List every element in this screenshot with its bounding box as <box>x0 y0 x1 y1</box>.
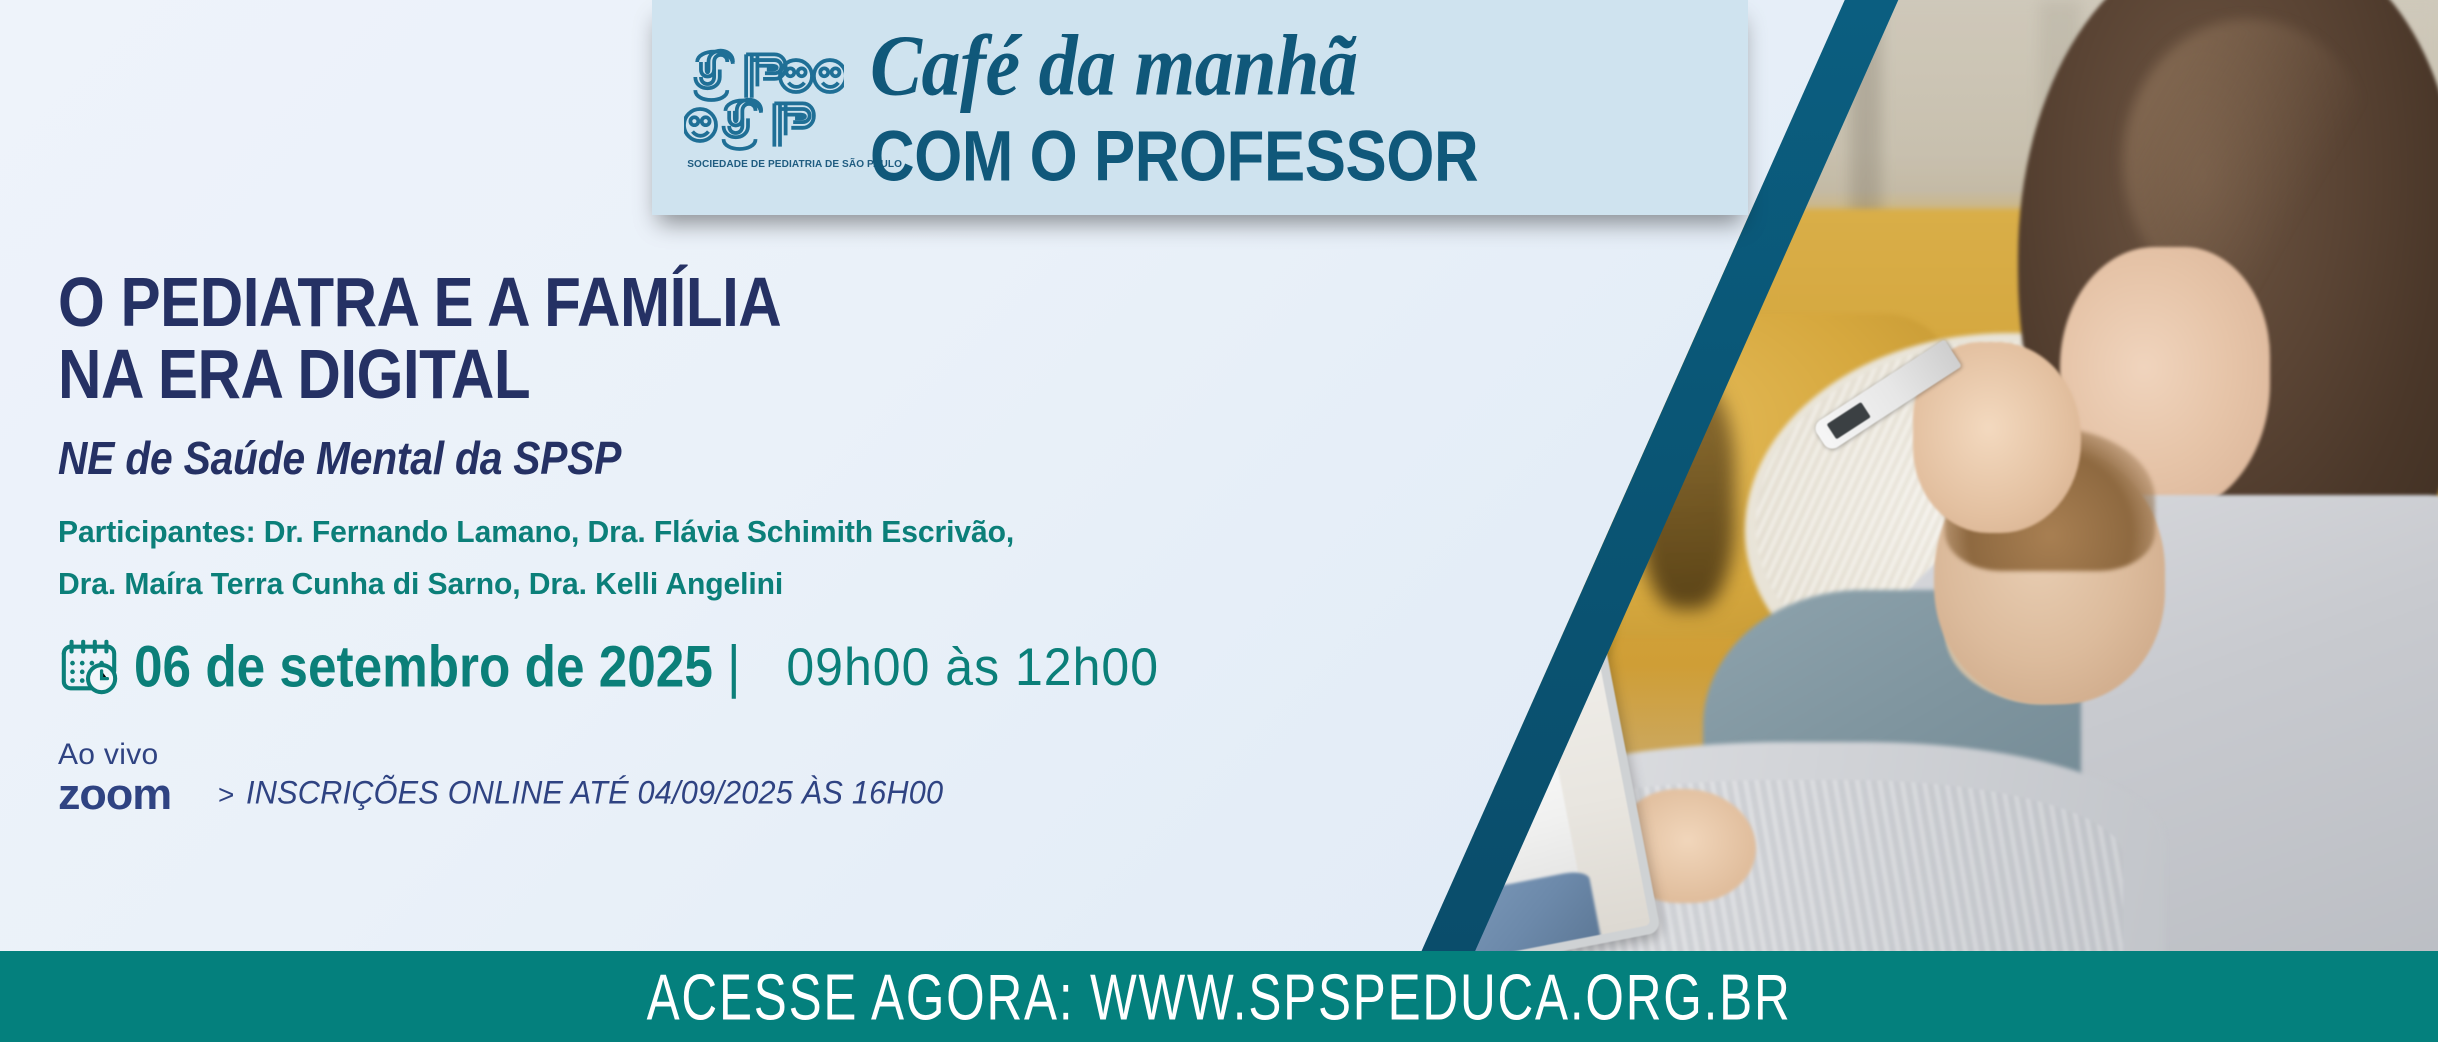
live-label: Ao vivo <box>58 740 188 770</box>
event-time: 09h00 às 12h00 <box>786 636 1159 697</box>
header-title-line2: COM O PROFESSOR <box>870 121 1478 193</box>
event-date-value: 06 de setembro de 2025 <box>134 634 713 699</box>
footer-cta-text: ACESSE AGORA: WWW.SPSPEDUCA.ORG.BR <box>647 959 1792 1035</box>
zoom-logo: zoom <box>58 772 191 818</box>
event-date: 06 de setembro de 2025 | <box>134 633 740 700</box>
participants-line1: Participantes: Dr. Fernando Lamano, Dra.… <box>58 514 1126 550</box>
registration-row[interactable]: > INSCRIÇÕES ONLINE ATÉ 04/09/2025 ÀS 16… <box>218 776 951 818</box>
registration-deadline: INSCRIÇÕES ONLINE ATÉ 04/09/2025 ÀS 16H0… <box>246 774 943 811</box>
logo-caption: SOCIEDADE DE PEDIATRIA DE SÃO PAULO <box>687 158 841 170</box>
doctor-face <box>1417 672 1494 756</box>
date-separator: | <box>727 634 740 699</box>
event-banner: SOCIEDADE DE PEDIATRIA DE SÃO PAULO Café… <box>0 0 2438 1042</box>
chevron-right-icon: > <box>218 779 234 811</box>
date-time-row: 06 de setembro de 2025 | 09h00 às 12h00 <box>58 636 1159 698</box>
eyeglasses-icon <box>1418 692 1489 725</box>
header-card: SOCIEDADE DE PEDIATRIA DE SÃO PAULO Café… <box>652 0 1748 215</box>
content-block: O PEDIATRA E A FAMÍLIA NA ERA DIGITAL NE… <box>58 268 1159 818</box>
zoom-block: Ao vivo zoom <box>58 740 188 818</box>
subtitle: NE de Saúde Mental da SPSP <box>58 432 1126 485</box>
spsp-logo-icon: SOCIEDADE DE PEDIATRIA DE SÃO PAULO <box>684 45 844 170</box>
sofa-shadow <box>1640 380 1735 608</box>
doctor-hair <box>1402 647 1504 749</box>
participants-line2: Dra. Maíra Terra Cunha di Sarno, Dra. Ke… <box>58 566 1126 602</box>
doctor-hand-left <box>1388 827 1431 886</box>
calendar-clock-icon <box>58 636 120 698</box>
header-titles: Café da manhã COM O PROFESSOR <box>870 31 1491 184</box>
live-registration-row: Ao vivo zoom > INSCRIÇÕES ONLINE ATÉ 04/… <box>58 740 1159 818</box>
headline-line2: NA ERA DIGITAL <box>58 340 1126 412</box>
header-title-line1: Café da manhã <box>870 22 1491 109</box>
headline-line1: O PEDIATRA E A FAMÍLIA <box>58 268 1126 340</box>
footer-cta-bar[interactable]: ACESSE AGORA: WWW.SPSPEDUCA.ORG.BR <box>0 951 2438 1042</box>
tablet-device <box>1388 587 1661 951</box>
